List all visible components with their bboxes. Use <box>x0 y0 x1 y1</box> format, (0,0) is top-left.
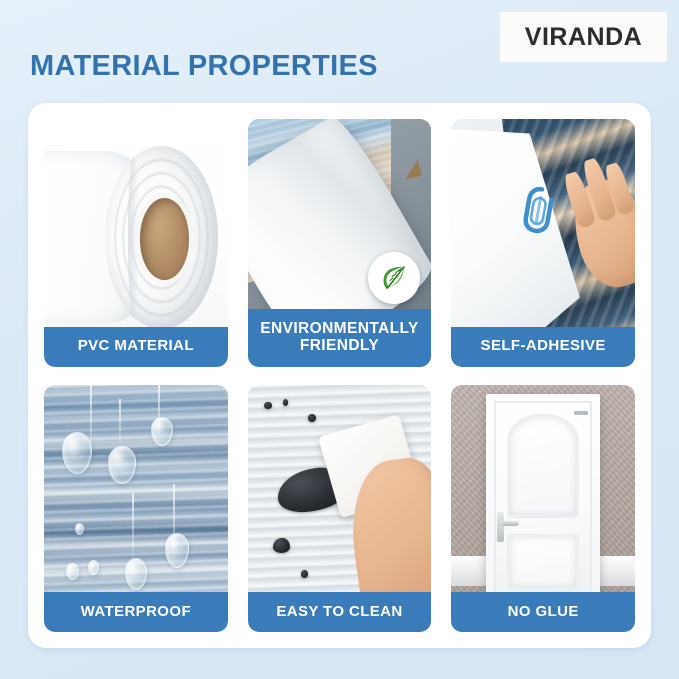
water-droplet <box>66 563 79 580</box>
water-droplet <box>108 446 136 483</box>
stain-spot <box>308 414 315 421</box>
water-droplet <box>62 432 91 474</box>
card-label-self-adhesive: SELF-ADHESIVE <box>451 327 635 367</box>
card-label-easy-to-clean: EASY TO CLEAN <box>248 592 432 632</box>
card-label-no-glue: NO GLUE <box>451 592 635 632</box>
stain-spot <box>301 570 308 577</box>
cardboard-core <box>140 198 190 280</box>
stain-spot <box>273 538 290 553</box>
feature-card-environmentally-friendly[interactable]: ENVIRONMENTALLYFRIENDLY <box>248 119 432 367</box>
feature-grid: PVC MATERIAL <box>44 119 635 632</box>
feature-card-no-glue[interactable]: NO GLUE <box>451 385 635 633</box>
card-label-environmentally-friendly: ENVIRONMENTALLYFRIENDLY <box>248 309 432 367</box>
door-frame <box>486 394 600 599</box>
door-slab <box>494 401 592 600</box>
stain-spot <box>264 402 271 409</box>
feature-card-pvc-material[interactable]: PVC MATERIAL <box>44 119 228 367</box>
water-droplet <box>151 417 173 447</box>
leaf-icon <box>368 252 420 304</box>
card-label-pvc-material: PVC MATERIAL <box>44 327 228 367</box>
feature-card-waterproof[interactable]: WATERPROOF <box>44 385 228 633</box>
page-title: MATERIAL PROPERTIES <box>30 50 378 83</box>
feature-card-easy-to-clean[interactable]: EASY TO CLEAN <box>248 385 432 633</box>
stain-spot <box>283 399 289 405</box>
card-label-waterproof: WATERPROOF <box>44 592 228 632</box>
brand-logo-box: VIRANDA <box>500 12 667 62</box>
door-handle-icon <box>497 512 504 542</box>
feature-card-self-adhesive[interactable]: SELF-ADHESIVE <box>451 119 635 367</box>
feature-panel: PVC MATERIAL <box>28 103 651 648</box>
brand-logo-text: VIRANDA <box>525 23 642 52</box>
